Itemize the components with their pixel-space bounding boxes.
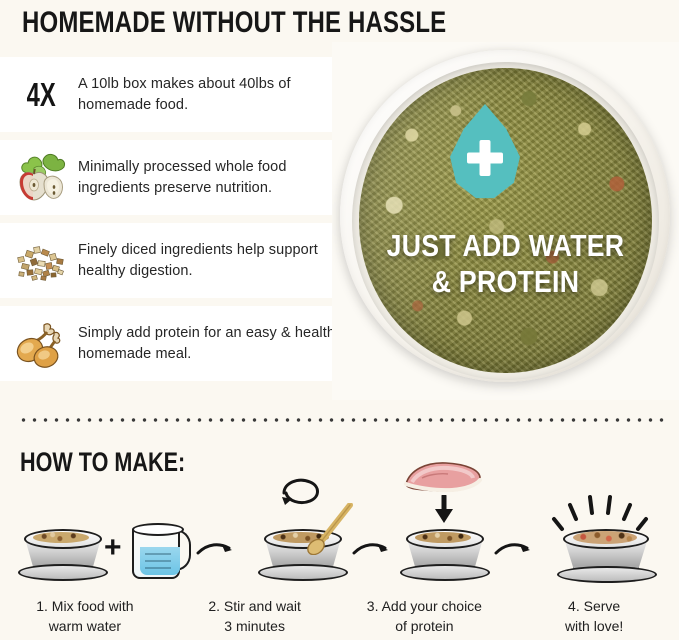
step-caption-3: 3. Add your choice of protein — [340, 596, 510, 640]
how-to-make-title: HOW TO MAKE: — [20, 447, 185, 478]
arrow-2-icon — [352, 541, 392, 564]
feature-text-4: Simply add protein for an easy & healthy… — [78, 323, 348, 365]
step-caption-4: 4. Serve with love! — [509, 596, 679, 640]
step-caption-4-line2: with love! — [509, 616, 679, 636]
chicken-drumsticks-icon — [10, 309, 72, 379]
step-1-dog-bowl — [18, 525, 104, 581]
step-caption-3-line1: 3. Add your choice — [340, 596, 510, 616]
bowl-food — [573, 531, 637, 544]
arrow-1-icon — [196, 541, 236, 564]
bowl-food — [415, 532, 471, 543]
plus-icon — [465, 138, 505, 178]
4x-badge-icon: 4X — [10, 60, 72, 130]
water-drop-plus-icon — [447, 104, 523, 200]
product-bowl-image: JUST ADD WATER & PROTEIN — [332, 42, 679, 400]
step-captions: 1. Mix food with warm water 2. Stir and … — [0, 596, 679, 640]
step-caption-1-line2: warm water — [0, 616, 170, 636]
apple-greens-icon — [10, 143, 72, 213]
cup-top-rim — [132, 523, 184, 536]
bowl-caption-line1: JUST ADD WATER — [356, 228, 654, 264]
diced-ingredients-icon — [10, 226, 72, 296]
step-caption-2-line1: 2. Stir and wait — [170, 596, 340, 616]
wooden-spoon-icon — [300, 503, 356, 560]
bowl-caption-line2: & PROTEIN — [356, 264, 654, 300]
cup-water — [140, 547, 180, 575]
feature-text-2: Minimally processed whole food ingredien… — [78, 157, 348, 199]
plus-symbol: + — [104, 533, 122, 563]
step-caption-2: 2. Stir and wait 3 minutes — [170, 596, 340, 640]
step-caption-4-line1: 4. Serve — [509, 596, 679, 616]
badge-4x-label: 4X — [26, 76, 55, 114]
step-3-dog-bowl — [400, 525, 486, 581]
bowl-base — [258, 564, 348, 581]
arrow-3-icon — [494, 541, 534, 564]
bowl-base — [18, 564, 108, 581]
bowl-base — [400, 564, 490, 581]
feature-text-3: Finely diced ingredients help support he… — [78, 240, 348, 282]
step-caption-3-line2: of protein — [340, 616, 510, 636]
feature-text-1: A 10lb box makes about 40lbs of homemade… — [78, 74, 348, 116]
bowl-food — [33, 532, 89, 543]
how-to-make-steps: + — [0, 495, 679, 595]
measuring-cup-icon — [128, 521, 190, 581]
page-title: HOMEMADE WITHOUT THE HASSLE — [22, 6, 446, 40]
step-caption-2-line2: 3 minutes — [170, 616, 340, 636]
step-caption-1: 1. Mix food with warm water — [0, 596, 170, 640]
infographic-page: HOMEMADE WITHOUT THE HASSLE 4X A 10lb bo… — [0, 0, 679, 640]
bowl-caption: JUST ADD WATER & PROTEIN — [332, 228, 679, 300]
bowl-base — [557, 566, 657, 583]
dotted-divider — [18, 418, 668, 422]
step-4-dog-bowl — [557, 525, 653, 583]
step-caption-1-line1: 1. Mix food with — [0, 596, 170, 616]
